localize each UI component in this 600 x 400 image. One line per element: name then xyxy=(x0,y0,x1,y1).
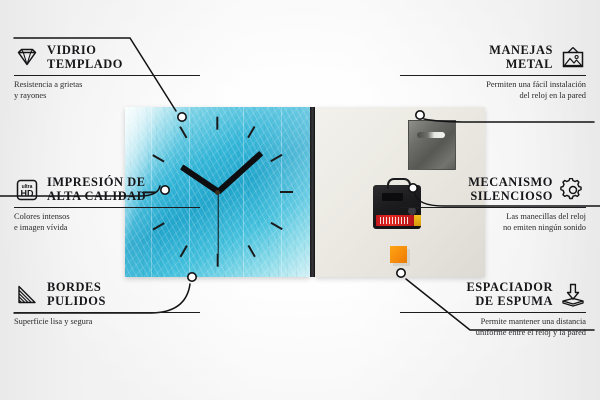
marker-manejas xyxy=(416,111,424,119)
marker-vidrio-templado xyxy=(178,113,186,121)
feature-title: MANEJAS METAL xyxy=(489,44,553,71)
gear-icon xyxy=(560,178,586,202)
feature-vidrio-templado: VIDRIO TEMPLADO Resistencia a grietas y … xyxy=(14,44,200,101)
feature-manejas-metal: MANEJAS METAL Permiten una fácil instala… xyxy=(400,44,586,101)
feature-espaciador-de-espuma: ESPACIADOR DE ESPUMA Permite mantener un… xyxy=(400,281,586,338)
feature-header: MECANISMO SILENCIOSO xyxy=(400,176,586,203)
marker-bordes xyxy=(188,273,196,281)
feature-description: Las manecillas del reloj no emiten ningú… xyxy=(400,212,586,233)
feature-header: ESPACIADOR DE ESPUMA xyxy=(400,281,586,308)
feature-title: ESPACIADOR DE ESPUMA xyxy=(466,281,553,308)
feature-description: Colores intensos e imagen vívida xyxy=(14,212,200,233)
feature-header: ultra HD IMPRESIÓN DE ALTA CALIDAD xyxy=(14,176,200,203)
ultra-hd-badge-icon: ultra HD xyxy=(14,178,40,202)
connector-manejas xyxy=(424,119,594,122)
divider xyxy=(400,312,586,313)
feature-mecanismo-silencioso: MECANISMO SILENCIOSO Las manecillas del … xyxy=(400,176,586,233)
feature-bordes-pulidos: BORDES PULIDOS Superficie lisa y segura xyxy=(14,281,200,328)
feature-description: Superficie lisa y segura xyxy=(14,317,200,327)
divider xyxy=(14,312,200,313)
feature-header: MANEJAS METAL xyxy=(400,44,586,71)
feature-header: VIDRIO TEMPLADO xyxy=(14,44,200,71)
wall-hanger-frame-icon xyxy=(560,46,586,70)
divider xyxy=(400,75,586,76)
feature-title: BORDES PULIDOS xyxy=(47,281,106,308)
infographic-canvas: VIDRIO TEMPLADO Resistencia a grietas y … xyxy=(0,0,600,400)
divider xyxy=(14,207,200,208)
feature-title: MECANISMO SILENCIOSO xyxy=(468,176,553,203)
feature-description: Permiten una fácil instalación del reloj… xyxy=(400,80,586,101)
divider xyxy=(14,75,200,76)
feature-title: VIDRIO TEMPLADO xyxy=(47,44,123,71)
feature-impresion-alta-calidad: ultra HD IMPRESIÓN DE ALTA CALIDAD Color… xyxy=(14,176,200,233)
feature-description: Permite mantener una distancia uniforme … xyxy=(400,317,586,338)
divider xyxy=(400,207,586,208)
marker-espaciador xyxy=(397,269,405,277)
diamond-icon xyxy=(14,46,40,70)
arrow-down-to-pad-icon xyxy=(560,283,586,307)
feature-title: IMPRESIÓN DE ALTA CALIDAD xyxy=(47,176,146,203)
polished-edge-icon xyxy=(14,283,40,307)
feature-header: BORDES PULIDOS xyxy=(14,281,200,308)
hd-label: HD xyxy=(21,188,34,198)
feature-description: Resistencia a grietas y rayones xyxy=(14,80,200,101)
